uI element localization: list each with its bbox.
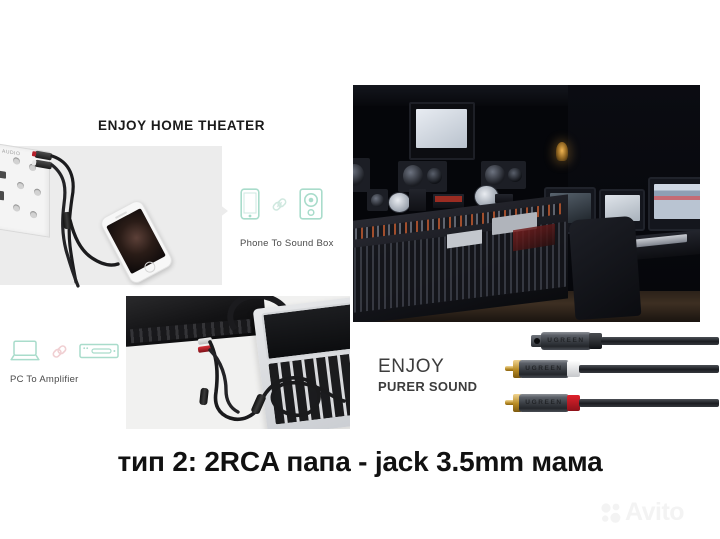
brand-label: UGREEN [521, 399, 567, 406]
phone-to-soundbox-caption: Phone To Sound Box [240, 238, 334, 249]
phone-icon [240, 188, 260, 220]
product-subhead: PURER SOUND [378, 379, 477, 394]
cable-wire [579, 365, 719, 373]
wall-display [409, 102, 475, 161]
studio-speaker-left [398, 161, 447, 192]
studio-chair [568, 216, 641, 320]
studio-clock [388, 192, 411, 213]
cable-illustration-pc [126, 296, 350, 429]
brand-label: UGREEN [521, 365, 567, 372]
wall-lamp [556, 142, 568, 161]
product-listing-image: ENJOY HOME THEATER AUDIO [0, 0, 720, 539]
avito-watermark: Avito [600, 500, 684, 525]
studio-speaker-small [367, 189, 388, 210]
avito-wordmark: Avito [625, 500, 684, 525]
studio-crt-far-right [648, 177, 700, 231]
ferrite-core [62, 212, 72, 230]
cable-wire [579, 399, 719, 407]
link-icon [51, 343, 68, 360]
pc-to-amplifier-icons [10, 340, 119, 362]
pc-to-amplifier-photo [126, 296, 350, 429]
recording-studio-photo [353, 85, 700, 322]
brand-label: UGREEN [543, 337, 589, 344]
link-icon [271, 196, 288, 213]
avito-logo-icon [600, 502, 622, 524]
studio-speaker-far-left [353, 158, 370, 191]
phone-to-soundbox-icons [240, 188, 323, 220]
speaker-box-icon [299, 188, 323, 220]
product-headline: ENJOY [378, 357, 444, 377]
rack-unit-a [409, 189, 426, 210]
laptop-icon [10, 340, 40, 362]
cable-wire [601, 337, 719, 345]
cable-illustration-theater [0, 0, 222, 290]
amplifier-icon [79, 342, 119, 360]
pc-to-amplifier-caption: PC To Amplifier [10, 374, 79, 385]
product-caption: тип 2: 2RCA папа - jack 3.5mm мама [0, 446, 720, 478]
